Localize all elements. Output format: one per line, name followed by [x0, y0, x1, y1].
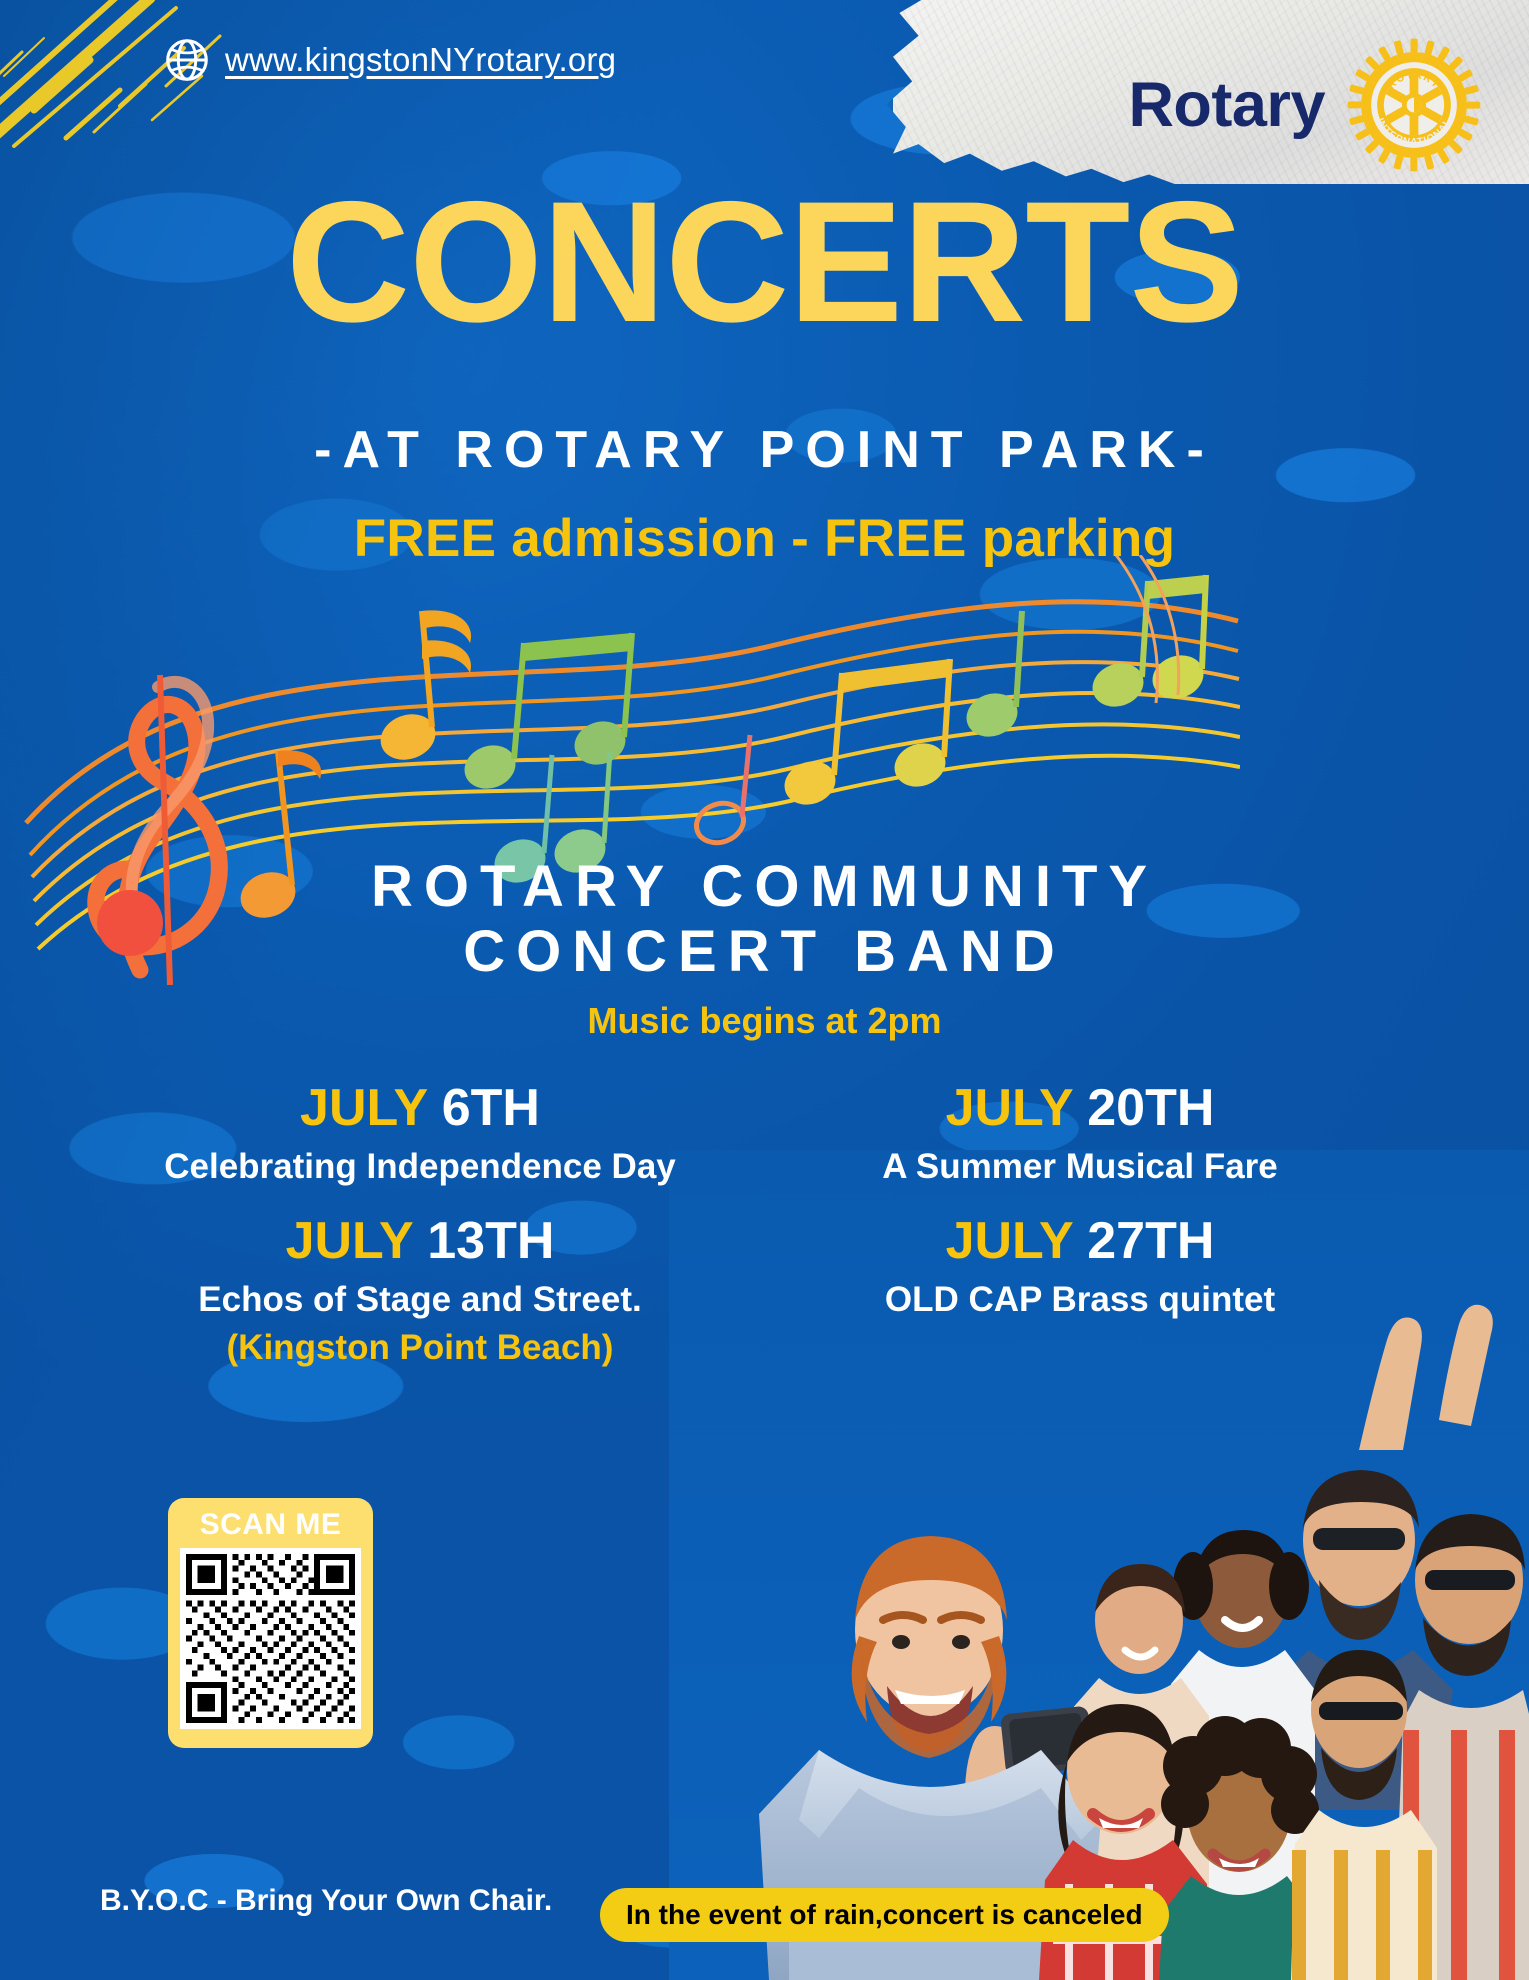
website-link[interactable]: www.kingstonNYrotary.org [165, 38, 616, 82]
date-month: JULY [946, 1212, 1073, 1270]
rotary-brand: Rotary [1128, 38, 1481, 172]
date-day: 20TH [1087, 1079, 1214, 1137]
dates-left-column: JULY 6TH Celebrating Independence Day JU… [90, 1080, 750, 1394]
byoc-note: B.Y.O.C - Bring Your Own Chair. [100, 1884, 552, 1918]
date-heading: JULY 27TH [750, 1213, 1410, 1270]
date-location: (Kingston Point Beach) [90, 1328, 750, 1368]
date-heading: JULY 13TH [90, 1213, 750, 1270]
date-heading: JULY 20TH [750, 1080, 1410, 1137]
date-month: JULY [946, 1079, 1073, 1137]
date-description: Echos of Stage and Street. [90, 1280, 750, 1320]
free-admission-line: FREE admission - FREE parking [0, 508, 1529, 569]
globe-icon [165, 38, 209, 82]
date-heading: JULY 6TH [90, 1080, 750, 1137]
date-description: Celebrating Independence Day [90, 1147, 750, 1187]
qr-code-card[interactable]: SCAN ME [168, 1498, 373, 1748]
qr-code-icon[interactable] [180, 1548, 361, 1729]
date-entry: JULY 27TH OLD CAP Brass quintet [750, 1213, 1410, 1320]
date-entry: JULY 20TH A Summer Musical Fare [750, 1080, 1410, 1187]
concert-poster: www.kingstonNYrotary.org Rotary [0, 0, 1529, 1980]
date-entry: JULY 6TH Celebrating Independence Day [90, 1080, 750, 1187]
band-name-line-1: ROTARY COMMUNITY [0, 855, 1529, 920]
page-title: CONCERTS [0, 176, 1529, 348]
date-day: 27TH [1087, 1212, 1214, 1270]
rotary-wordmark: Rotary [1128, 74, 1325, 137]
concert-dates: JULY 6TH Celebrating Independence Day JU… [90, 1080, 1410, 1394]
date-description: OLD CAP Brass quintet [750, 1280, 1410, 1320]
dates-right-column: JULY 20TH A Summer Musical Fare JULY 27T… [750, 1080, 1410, 1394]
date-month: JULY [286, 1212, 413, 1270]
start-time-text: Music begins at 2pm [0, 1000, 1529, 1042]
website-url-text: www.kingstonNYrotary.org [225, 41, 616, 79]
scan-me-label: SCAN ME [180, 1508, 361, 1542]
date-day: 13TH [427, 1212, 554, 1270]
page-subtitle: -AT ROTARY POINT PARK- [0, 420, 1529, 480]
rotary-wheel-icon: ROTARY INTERNATIONAL [1347, 38, 1481, 172]
band-name: ROTARY COMMUNITY CONCERT BAND [0, 855, 1529, 985]
date-description: A Summer Musical Fare [750, 1147, 1410, 1187]
date-month: JULY [300, 1079, 427, 1137]
rain-notice-banner: In the event of rain,concert is canceled [600, 1888, 1169, 1942]
date-entry: JULY 13TH Echos of Stage and Street. (Ki… [90, 1213, 750, 1368]
date-day: 6TH [442, 1079, 540, 1137]
band-name-line-2: CONCERT BAND [0, 920, 1529, 985]
